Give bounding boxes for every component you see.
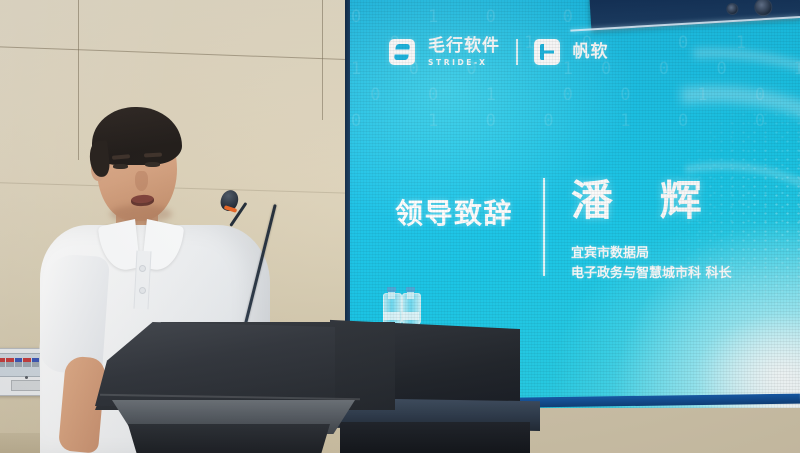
breaker-switch	[6, 358, 13, 367]
slide-person-org-line1: 宜宾市数据局	[571, 244, 732, 264]
bottle-cap	[387, 287, 396, 292]
breaker-switch	[0, 358, 5, 367]
bottle-cap	[406, 287, 415, 292]
slide-main-content: 领导致辞 潘 辉 宜宾市数据局 电子政务与智慧城市科 科长	[395, 178, 732, 283]
stride-x-logo-text: 毛行软件 STRIDE-X	[428, 38, 500, 67]
speaker-shirt-placket	[133, 251, 151, 310]
breaker-switch	[15, 358, 22, 367]
breaker-switch	[32, 358, 39, 367]
slide-vertical-divider	[543, 178, 545, 276]
shirt-logo-icon	[164, 281, 190, 289]
bottle-label	[402, 312, 419, 320]
slide-person-org-line2: 电子政务与智慧城市科 科长	[571, 264, 732, 284]
fanruan-logo-icon	[534, 39, 560, 65]
speaker-nose	[135, 171, 148, 191]
speaker-shirt-button	[139, 287, 146, 294]
podium-right-base	[340, 422, 530, 453]
speaker-eye	[145, 162, 160, 167]
speaker-shirt-button	[139, 265, 146, 272]
water-bottle	[402, 287, 419, 325]
ceiling-light-fixture	[726, 3, 739, 16]
podium-base	[115, 424, 330, 453]
wall-seam-horizontal	[0, 46, 360, 61]
stride-x-name-en: STRIDE-X	[428, 58, 500, 67]
photo-scene: 0 1 0 0 1 0 0 1 0 0 0 1 0 0 1 0 0 1 0 0 …	[0, 0, 800, 453]
water-bottles	[383, 287, 419, 325]
slide-person-name: 潘 辉	[571, 180, 732, 222]
fanruan-name-cn: 帆软	[573, 44, 609, 62]
water-bottle	[383, 287, 400, 325]
slide-role-title: 领导致辞	[395, 178, 513, 228]
slide-person-block: 潘 辉 宜宾市数据局 电子政务与智慧城市科 科长	[571, 178, 732, 283]
bottle-neck	[388, 291, 395, 299]
bottle-neck	[407, 291, 414, 299]
stride-x-logo-icon	[389, 39, 415, 65]
wall-seam-vertical	[322, 0, 323, 120]
breaker-switch	[23, 358, 30, 367]
stride-x-name-cn: 毛行软件	[428, 38, 500, 56]
logo-divider	[516, 39, 518, 65]
speaker-chin-shadow	[110, 205, 172, 223]
slide-person-org: 宜宾市数据局 电子政务与智慧城市科 科长	[571, 244, 732, 283]
speaker-sleeve	[38, 253, 110, 375]
ceiling-light-fixture	[754, 0, 773, 17]
speaker-eye	[113, 164, 128, 169]
bottle-label	[383, 312, 400, 320]
slide-logo-row: 毛行软件 STRIDE-X 帆软	[389, 38, 609, 67]
panel-indicator-dot	[25, 376, 28, 379]
panel-nameplate	[11, 380, 43, 391]
